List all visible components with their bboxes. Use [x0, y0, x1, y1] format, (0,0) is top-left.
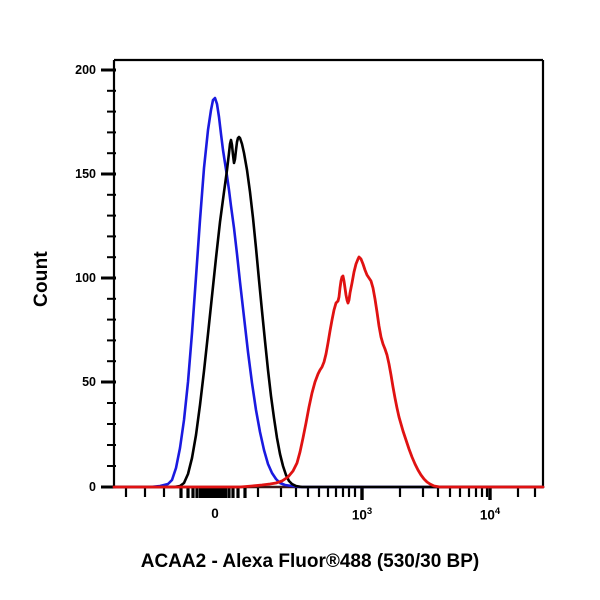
y-tick-label-100: 100 — [52, 271, 96, 285]
x-tick-label-1e3-exponent: 3 — [367, 506, 372, 517]
curve-unstained-control — [114, 98, 543, 487]
x-tick-label-1e3: 103 — [332, 506, 392, 523]
y-axis-title: Count — [31, 219, 53, 339]
y-tick-label-200: 200 — [52, 63, 96, 77]
y-tick-label-50: 50 — [52, 375, 96, 389]
x-tick-label-1e4-mantissa: 10 — [480, 508, 495, 523]
x-tick-label-0-text: 0 — [211, 506, 219, 521]
x-axis-title: ACAA2 - Alexa Fluor®488 (530/30 BP) — [60, 551, 560, 573]
plot-frame — [114, 60, 543, 487]
y-tick-label-150: 150 — [52, 167, 96, 181]
x-tick-label-1e4: 104 — [460, 506, 520, 523]
x-axis-ticks — [126, 488, 535, 500]
y-tick-label-0: 0 — [52, 480, 96, 494]
x-tick-label-0: 0 — [185, 506, 245, 521]
x-tick-label-1e3-mantissa: 10 — [352, 508, 367, 523]
curve-isotype-control — [114, 137, 543, 487]
histogram-curves — [114, 98, 543, 487]
x-tick-label-1e4-exponent: 4 — [495, 506, 500, 517]
